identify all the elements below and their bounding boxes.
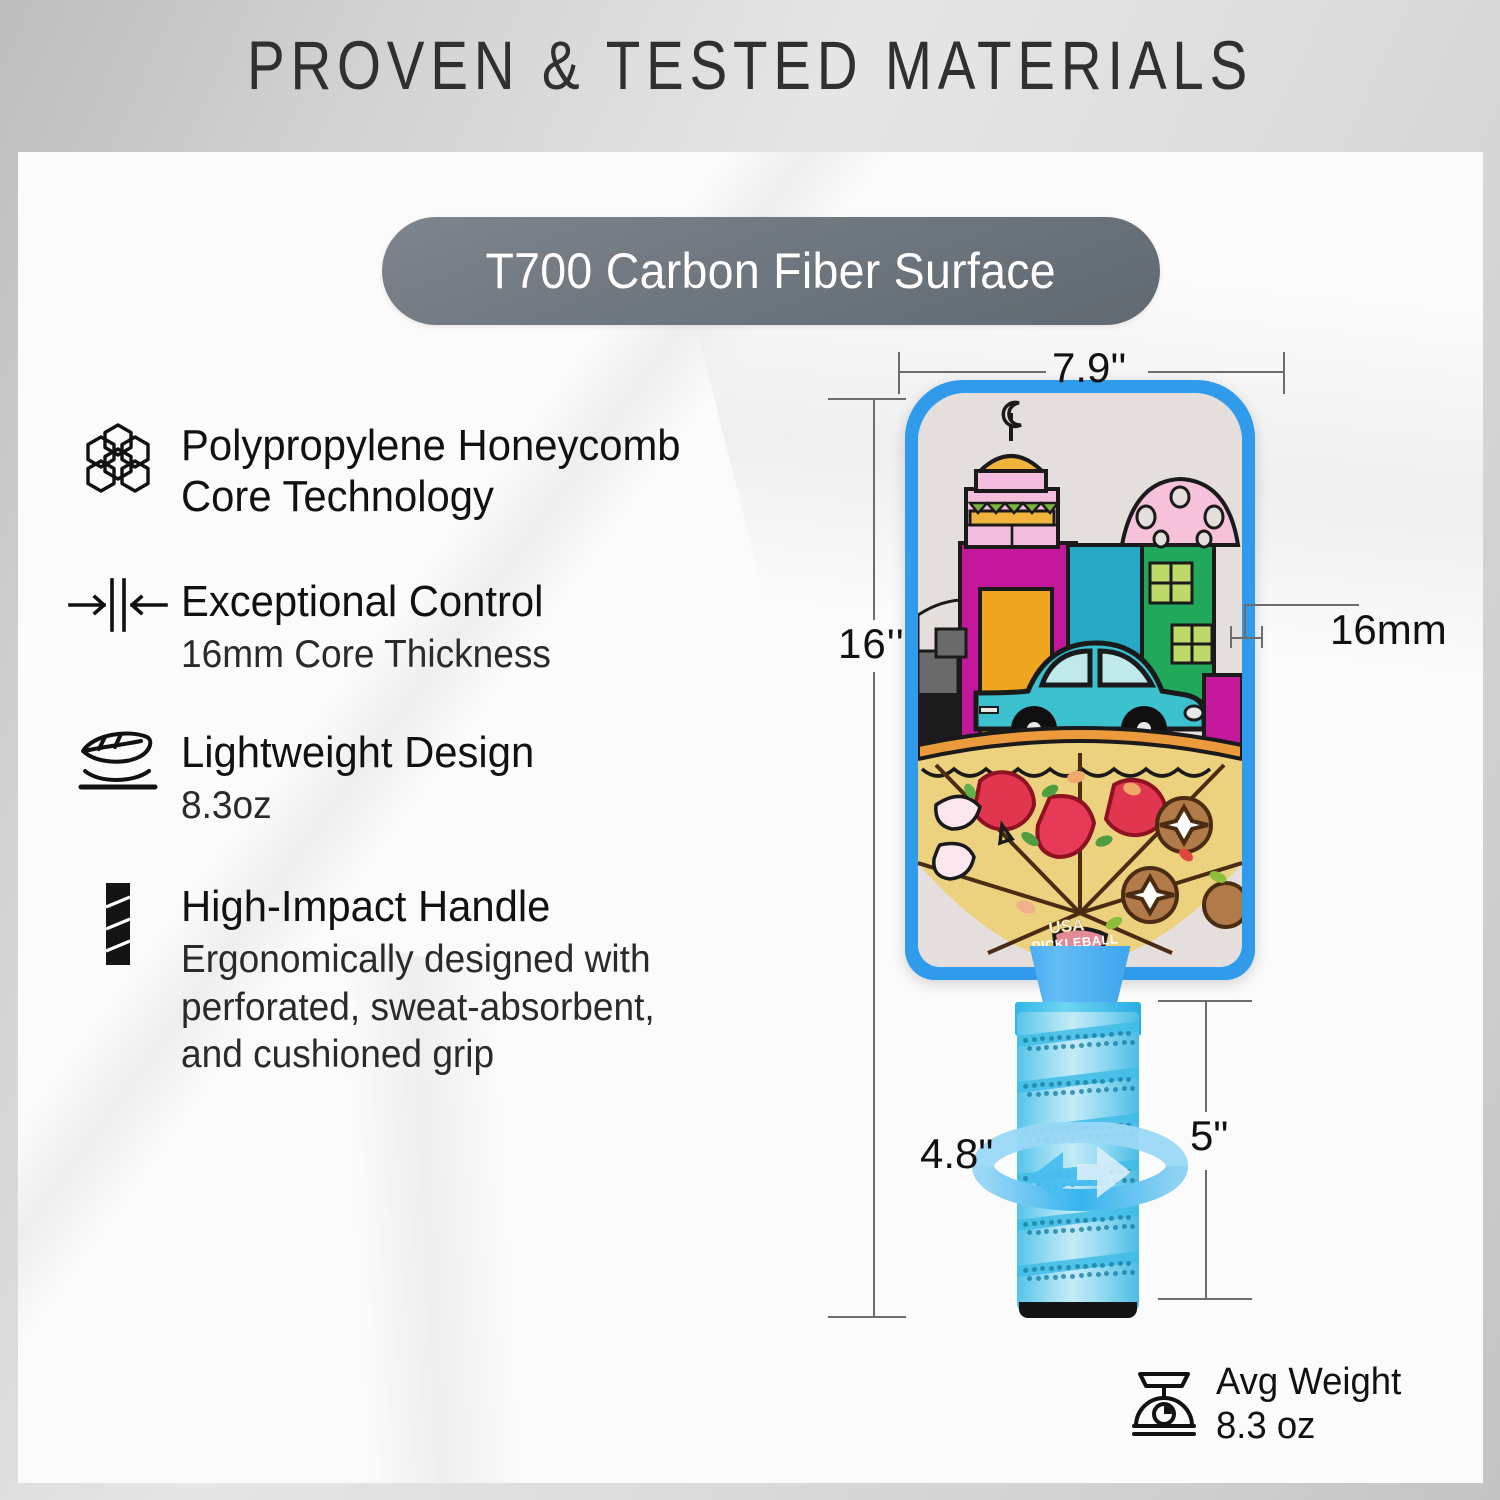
page-title: PROVEN & TESTED MATERIALS [135,26,1365,105]
feature-title: Polypropylene Honeycomb Core Technology [181,420,775,522]
paddle-face-edge-guard: USA PICKLEBALL APPROVED [905,380,1255,980]
feature-subtitle: Ergonomically designed with perforated, … [181,936,775,1079]
paddle-artwork: USA PICKLEBALL APPROVED [918,393,1242,967]
dimension-core-thickness-label: 16mm [1330,606,1447,654]
honeycomb-icon [66,420,170,498]
feather-lightweight-icon [66,727,170,805]
surface-material-badge-label: T700 Carbon Fiber Surface [486,242,1056,300]
avg-weight-badge: Avg Weight 8.3 oz [1128,1360,1409,1448]
dimension-handle-length-label: 5" [1190,1112,1228,1160]
feature-item-exceptional-control: Exceptional Control 16mm Core Thickness [66,576,806,679]
grip-handle-icon [66,881,170,959]
surface-material-badge: T700 Carbon Fiber Surface [382,217,1160,325]
kitchen-scale-icon [1128,1364,1200,1445]
infographic-canvas: PROVEN & TESTED MATERIALS T700 Carbon Fi… [0,0,1500,1500]
feature-item-high-impact-handle: High-Impact Handle Ergonomically designe… [66,881,806,1079]
feature-title: Lightweight Design [181,727,775,778]
feature-item-honeycomb-core: Polypropylene Honeycomb Core Technology [66,420,806,522]
grip-end-cap [1019,1302,1137,1318]
caliper-thickness-icon [66,576,170,654]
dimension-width-label: 7.9'' [1052,344,1126,392]
feature-text-block: Exceptional Control 16mm Core Thickness [181,576,806,679]
feature-text-block: High-Impact Handle Ergonomically designe… [181,881,806,1079]
paddle-grip [1017,1012,1139,1312]
feature-text-block: Polypropylene Honeycomb Core Technology [181,420,806,522]
dimension-grip-circumference-label: 4.8" [920,1130,993,1178]
feature-subtitle: 16mm Core Thickness [181,631,775,679]
feature-title: Exceptional Control [181,576,775,627]
feature-text-block: Lightweight Design 8.3oz [181,727,806,830]
avg-weight-text: Avg Weight 8.3 oz [1216,1360,1401,1448]
dimension-height-label: 16'' [838,620,905,668]
feature-list: Polypropylene Honeycomb Core Technology [66,420,806,1119]
paddle-illustration: USA PICKLEBALL APPROVED [905,380,1255,1320]
feature-subtitle: 8.3oz [181,782,775,830]
grip-perforations [1017,1012,1139,1312]
feature-item-lightweight-design: Lightweight Design 8.3oz [66,727,806,830]
feature-title: High-Impact Handle [181,881,775,932]
